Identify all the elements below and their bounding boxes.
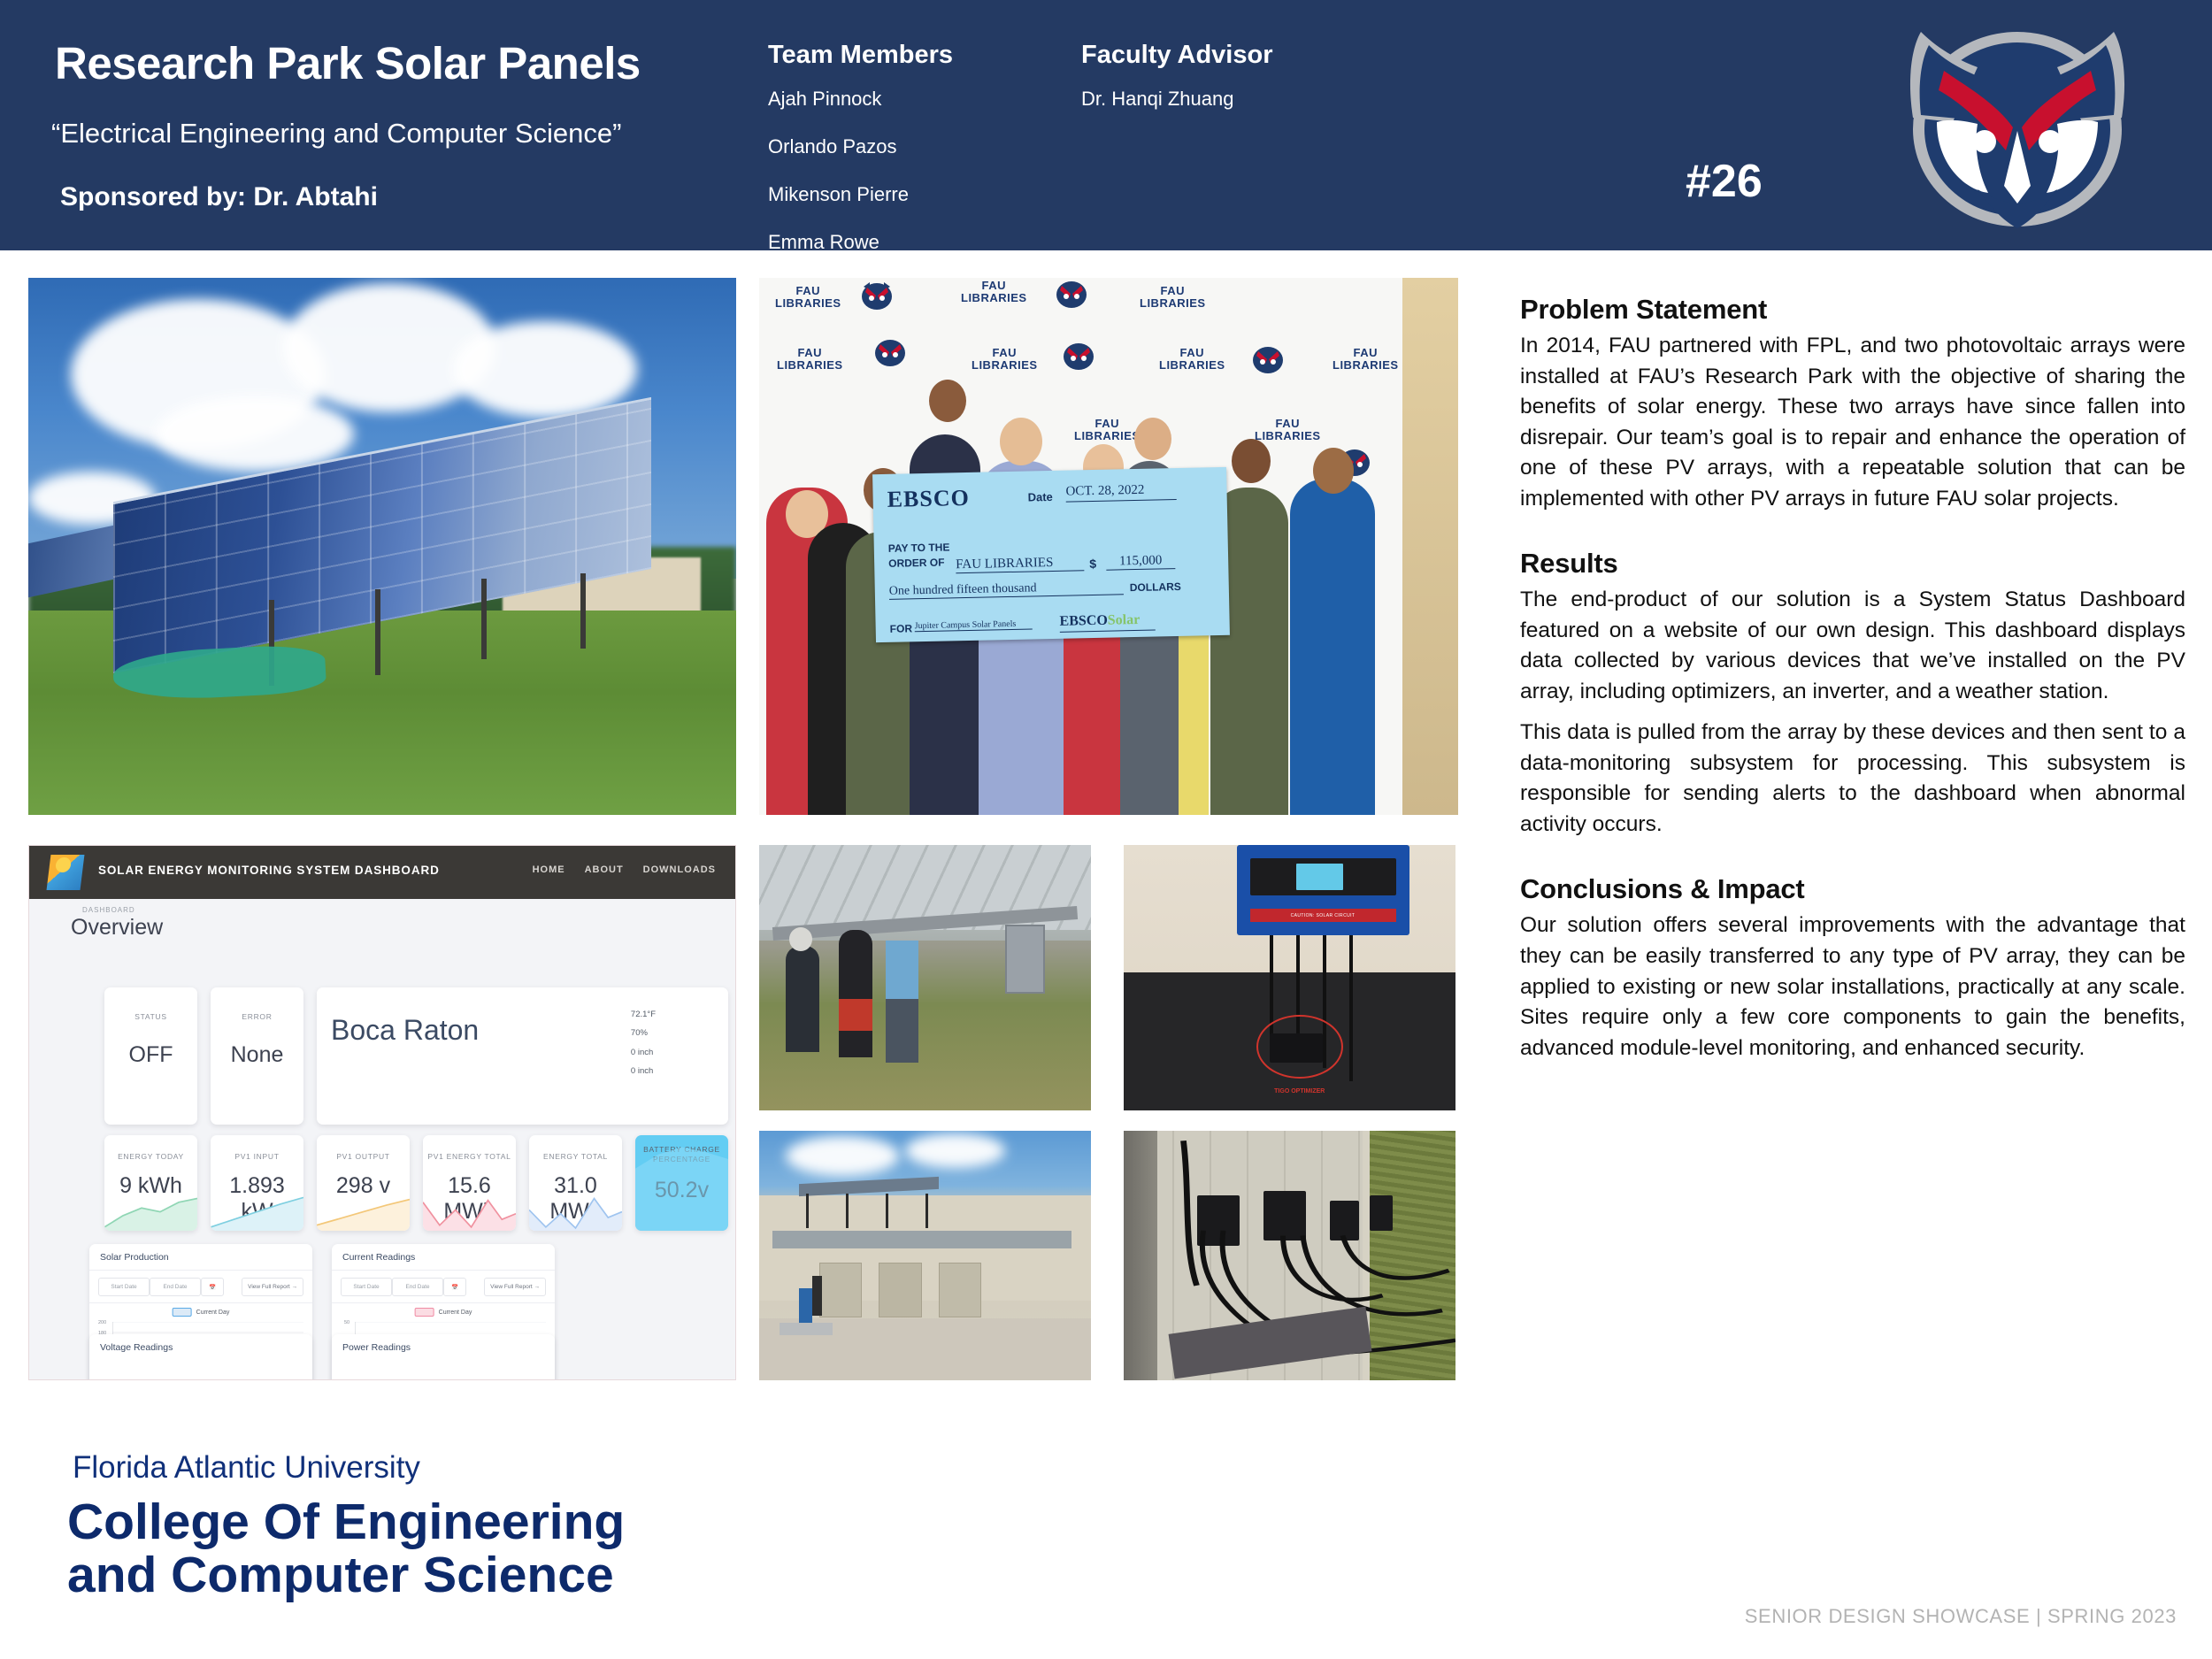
check-currency: $	[1089, 557, 1096, 571]
metric-card: ENERGY TOTAL 31.0 MWh	[529, 1135, 622, 1231]
view-full-report-link[interactable]: View Full Report →	[242, 1278, 303, 1296]
status-card-value: OFF	[104, 1042, 197, 1068]
view-full-report-link[interactable]: View Full Report →	[484, 1278, 546, 1296]
caution-label: CAUTION: SOLAR CIRCUIT	[1250, 909, 1396, 922]
team-member-name: Mikenson Pierre	[768, 183, 953, 206]
location-city-name: Boca Raton	[331, 1014, 479, 1047]
sun-panel-logo-icon	[47, 855, 85, 890]
section-problem-statement: Problem Statement In 2014, FAU partnered…	[1520, 294, 2185, 514]
person	[839, 930, 872, 1057]
chart-title: Voltage Readings	[100, 1342, 173, 1353]
metric-card-label: PV1 INPUT	[211, 1152, 303, 1161]
calendar-icon[interactable]: 📅	[201, 1278, 224, 1296]
backdrop-fau-text: FAULIBRARIES	[1074, 418, 1141, 442]
cloud	[453, 321, 637, 418]
metric-card-label: PV1 OUTPUT	[317, 1152, 410, 1161]
window-band	[772, 1231, 1071, 1248]
legend-swatch	[415, 1308, 434, 1317]
photo-team-under-array	[759, 845, 1091, 1110]
section-paragraph: This data is pulled from the array by th…	[1520, 718, 2185, 840]
backdrop-fau-text: FAULIBRARIES	[972, 347, 1038, 371]
person	[1290, 479, 1375, 815]
backdrop-fau-text: FAULIBRARIES	[777, 347, 843, 371]
inverter-lcd	[1296, 864, 1343, 890]
chart-legend: Current Day	[415, 1308, 472, 1317]
section-heading: Conclusions & Impact	[1520, 873, 2185, 905]
faculty-advisor-name: Dr. Hanqi Zhuang	[1081, 88, 1272, 111]
end-date-input[interactable]: End Date	[392, 1278, 443, 1296]
chart-panel-power-readings: Power Readings	[332, 1334, 555, 1380]
status-card-label: STATUS	[104, 1012, 197, 1021]
nav-link-about[interactable]: ABOUT	[585, 864, 624, 875]
divider	[89, 1302, 312, 1303]
photo-inverter-optimizer: CAUTION: SOLAR CIRCUIT TIGO OPTIMIZER	[1124, 845, 1455, 1110]
divider	[89, 1270, 312, 1271]
team-member-name: Ajah Pinnock	[768, 88, 953, 111]
sparkline-pv1-input	[211, 1193, 303, 1231]
person	[786, 946, 819, 1052]
weather-temperature: 72.1°F	[631, 1005, 656, 1024]
weather-humidity: 70%	[631, 1024, 656, 1042]
door	[939, 1263, 982, 1317]
poster-number: #26	[1686, 155, 1763, 208]
photo-building-install	[759, 1131, 1091, 1380]
error-card: ERROR None	[211, 987, 303, 1125]
backdrop-fau-text: FAULIBRARIES	[1159, 347, 1225, 371]
door	[819, 1263, 863, 1317]
divider	[332, 1270, 555, 1271]
section-conclusions-impact: Conclusions & Impact Our solution offers…	[1520, 873, 2185, 1064]
dashboard-breadcrumb: DASHBOARD	[82, 906, 135, 914]
team-members-column: Team Members Ajah Pinnock Orlando Pazos …	[768, 41, 953, 279]
electrical-enclosure	[1005, 925, 1045, 994]
person	[812, 1276, 822, 1316]
chart-title: Power Readings	[342, 1342, 411, 1353]
photo-solar-field	[28, 278, 736, 815]
poster-subtitle: “Electrical Engineering and Computer Sci…	[51, 118, 621, 150]
person-head	[1134, 418, 1171, 460]
metric-card: PV1 OUTPUT 298 v	[317, 1135, 410, 1231]
calendar-icon[interactable]: 📅	[443, 1278, 466, 1296]
chart-title: Current Readings	[342, 1252, 415, 1263]
section-heading: Results	[1520, 548, 2185, 580]
cloud	[786, 1136, 899, 1176]
person-shorts	[839, 999, 872, 1031]
check-date-value: OCT. 28, 2022	[1065, 482, 1176, 503]
check-pay-label: PAY TO THEORDER OF	[888, 540, 950, 572]
array-support-leg	[481, 579, 487, 659]
footer-college-name: College Of Engineering and Computer Scie…	[67, 1495, 625, 1602]
chart-legend: Current Day	[173, 1308, 230, 1317]
backdrop-fau-text: FAULIBRARIES	[1333, 347, 1399, 371]
metric-card: PV1 INPUT 1.893 kW	[211, 1135, 303, 1231]
annotation-label: TIGO OPTIMIZER	[1256, 1088, 1343, 1094]
check-brand: EBSCO	[887, 485, 970, 513]
faculty-advisor-heading: Faculty Advisor	[1081, 41, 1272, 70]
weather-rain-2: 0 inch	[631, 1062, 656, 1080]
divider	[332, 1302, 555, 1303]
legend-swatch	[173, 1308, 192, 1317]
check-amount: 115,000	[1106, 553, 1175, 571]
start-date-input[interactable]: Start Date	[341, 1278, 392, 1296]
team-member-name: Emma Rowe	[768, 231, 953, 254]
section-results: Results The end-product of our solution …	[1520, 548, 2185, 840]
cloud	[905, 1133, 1005, 1168]
backdrop-fau-text: FAULIBRARIES	[1140, 285, 1206, 309]
section-paragraph: Our solution offers several improvements…	[1520, 910, 2185, 1064]
metric-card-label: ENERGY TODAY	[104, 1152, 197, 1161]
team-members-heading: Team Members	[768, 41, 953, 70]
weather-rain-1: 0 inch	[631, 1043, 656, 1062]
footer-college-line1: College Of Engineering	[67, 1494, 625, 1550]
sparkline-pv1-output	[317, 1193, 410, 1231]
backdrop-owl-icon	[870, 336, 910, 368]
start-date-input[interactable]: Start Date	[98, 1278, 150, 1296]
footer-university-name: Florida Atlantic University	[73, 1450, 420, 1486]
poster-header: Research Park Solar Panels “Electrical E…	[0, 0, 2212, 250]
section-paragraph: The end-product of our solution is a Sys…	[1520, 585, 2185, 707]
end-date-input[interactable]: End Date	[150, 1278, 201, 1296]
weather-stats: 72.1°F 70% 0 inch 0 inch	[631, 1005, 656, 1081]
array-support-leg	[580, 573, 586, 649]
section-paragraph: In 2014, FAU partnered with FPL, and two…	[1520, 331, 2185, 514]
check-for-label: FOR	[890, 622, 913, 635]
sparkline-pv1-energy-total	[423, 1193, 516, 1231]
metric-card: PV1 ENERGY TOTAL 15.6 MWh	[423, 1135, 516, 1231]
check-date-label: Date	[1027, 490, 1052, 504]
chart-panel-voltage-readings: Voltage Readings	[89, 1334, 312, 1380]
backdrop-owl-icon	[1248, 343, 1288, 375]
metric-card: ENERGY TODAY 9 kWh	[104, 1135, 197, 1231]
dashboard-navbar: SOLAR ENERGY MONITORING SYSTEM DASHBOARD…	[29, 846, 735, 899]
backdrop-fau-text: FAULIBRARIES	[961, 280, 1027, 303]
legend-label: Current Day	[196, 1310, 230, 1316]
check-footer-logo: EBSCOSolar	[1059, 612, 1155, 633]
oversized-check: EBSCO Date OCT. 28, 2022 PAY TO THEORDER…	[872, 467, 1230, 642]
poster-sponsor: Sponsored by: Dr. Abtahi	[60, 182, 378, 212]
nav-link-home[interactable]: HOME	[533, 864, 565, 875]
metric-card-label: ENERGY TOTAL	[529, 1152, 622, 1161]
backdrop-owl-icon	[1058, 340, 1099, 372]
error-card-label: ERROR	[211, 1012, 303, 1021]
backdrop-fau-text: FAULIBRARIES	[1255, 418, 1321, 442]
person-head	[1313, 448, 1354, 494]
faculty-advisor-column: Faculty Advisor Dr. Hanqi Zhuang	[1081, 41, 1272, 135]
fau-owl-logo-icon	[1871, 16, 2163, 237]
photo-check-presentation: FAULIBRARIES FAULIBRARIES FAULIBRARIES F…	[759, 278, 1458, 815]
sparkline-battery	[635, 1135, 728, 1231]
check-for-value: Jupiter Campus Solar Panels	[915, 618, 1033, 632]
sparkline-energy-total	[529, 1193, 622, 1231]
person	[799, 1288, 812, 1323]
check-dollars-label: DOLLARS	[1130, 580, 1181, 594]
y-tick: 50	[344, 1320, 349, 1325]
photo-wiring-closeup	[1124, 1131, 1455, 1380]
poster-text-column: Problem Statement In 2014, FAU partnered…	[1520, 294, 2185, 1074]
metric-card-battery: BATTERY CHARGE PERCENTAGE 50.2v	[635, 1135, 728, 1231]
dashboard-page-title: Overview	[71, 915, 163, 941]
wall-edge	[1402, 278, 1458, 815]
section-heading: Problem Statement	[1520, 294, 2185, 326]
team-member-name: Orlando Pazos	[768, 135, 953, 158]
legend-label: Current Day	[439, 1310, 472, 1316]
check-amount-words: One hundred fifteen thousand	[889, 580, 1124, 600]
work-table	[780, 1323, 833, 1335]
error-card-value: None	[211, 1042, 303, 1068]
spacer	[1520, 525, 2185, 548]
dashboard-nav-links: HOME ABOUT DOWNLOADS	[533, 864, 716, 875]
photo-dashboard-screenshot: SOLAR ENERGY MONITORING SYSTEM DASHBOARD…	[28, 845, 736, 1380]
backdrop-owl-icon	[856, 280, 897, 311]
array-support-leg	[375, 589, 380, 675]
backdrop-owl-icon	[1051, 278, 1092, 310]
poster-title: Research Park Solar Panels	[55, 37, 641, 89]
person-head	[1232, 439, 1271, 483]
annotation-circle	[1256, 1015, 1343, 1079]
sparkline-energy-today	[104, 1193, 197, 1231]
footer-showcase-label: SENIOR DESIGN SHOWCASE | SPRING 2023	[1745, 1605, 2177, 1628]
y-tick: 200	[98, 1320, 106, 1325]
spacer	[1520, 850, 2185, 873]
person-head	[929, 380, 966, 422]
footer-college-line2: and Computer Science	[67, 1547, 614, 1603]
check-payee: FAU LIBRARIES	[956, 555, 1084, 573]
person-head	[789, 927, 812, 951]
nav-link-downloads[interactable]: DOWNLOADS	[643, 864, 716, 875]
door	[879, 1263, 922, 1317]
backdrop-fau-text: FAULIBRARIES	[775, 285, 841, 309]
person-head	[1000, 418, 1042, 465]
status-card: STATUS OFF	[104, 987, 197, 1125]
location-card: Boca Raton 72.1°F 70% 0 inch 0 inch	[317, 987, 728, 1125]
dashboard-site-title: SOLAR ENERGY MONITORING SYSTEM DASHBOARD	[98, 864, 440, 877]
metric-card-label: PV1 ENERGY TOTAL	[423, 1152, 516, 1161]
chart-title: Solar Production	[100, 1252, 169, 1263]
